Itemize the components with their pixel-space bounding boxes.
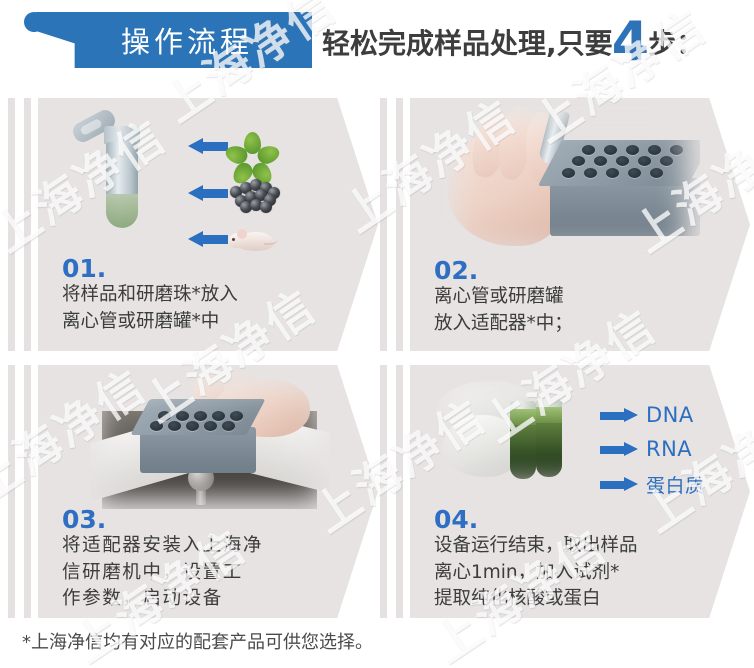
sample-vial-icon: [536, 399, 562, 477]
step-number: 03.: [62, 505, 106, 534]
step-caption: 将适配器安装入上海净 信研磨机中，设置工 作参数，启动设备: [62, 533, 263, 613]
banner-label: 操作流程: [95, 19, 253, 61]
page-title: 轻松完成样品处理,只要 4 步：: [322, 13, 704, 71]
step-number: 04.: [434, 505, 478, 534]
mouse-icon: [228, 224, 278, 254]
arrow-left-icon: [188, 138, 228, 154]
sample-row-beads: [188, 176, 280, 210]
card-accent-bar-outer: [8, 365, 15, 618]
card-accent-bar-inner: [396, 365, 403, 618]
headline-suffix: 步：: [648, 22, 704, 62]
output-label-protein: 蛋白质: [646, 471, 705, 498]
step-card-02: 02. 离心管或研磨罐 放入适配器*中；: [380, 98, 750, 351]
output-label-dna: DNA: [646, 403, 694, 427]
tube-body: [106, 142, 138, 228]
headline-prefix: 轻松完成样品处理,只要: [322, 22, 613, 62]
step-card-04: DNA RNA 蛋白质 04. 设备运行结束，取出样品 离心1min，加入试剂*…: [380, 365, 750, 618]
adapter-loading-photo: [440, 102, 700, 262]
card-accent-bar-inner: [396, 98, 403, 351]
card-accent-bar-outer: [380, 98, 387, 351]
card-accent-bar-outer: [380, 365, 387, 618]
clover-leaf-icon: [228, 126, 274, 166]
tube-liquid: [106, 194, 138, 228]
step-card-01: 01. 将样品和研磨珠*放入 离心管或研磨罐*中: [8, 98, 378, 351]
card-body: 03. 将适配器安装入上海净 信研磨机中，设置工 作参数，启动设备: [38, 365, 378, 618]
step-number: 01.: [62, 254, 106, 283]
card-body: 02. 离心管或研磨罐 放入适配器*中；: [410, 98, 750, 351]
sample-vial-icon: [510, 401, 536, 479]
output-row-dna: DNA: [600, 403, 694, 427]
page-header: 操作流程 轻松完成样品处理,只要 4 步：: [0, 0, 754, 84]
step-number: 02.: [434, 256, 478, 285]
arrow-left-icon: [188, 231, 228, 247]
output-row-protein: 蛋白质: [600, 471, 705, 498]
arrow-left-icon: [188, 185, 228, 201]
card-accent-bar-inner: [24, 98, 31, 351]
card-body: DNA RNA 蛋白质 04. 设备运行结束，取出样品 离心1min，加入试剂*…: [410, 365, 750, 618]
card-accent-bar-inner: [24, 365, 31, 618]
output-label-rna: RNA: [646, 437, 692, 461]
headline-step-count: 4: [612, 19, 650, 65]
arrow-right-icon: [600, 477, 638, 492]
step-caption: 将样品和研磨珠*放入 离心管或研磨罐*中: [62, 282, 238, 335]
sample-row-animal: [188, 224, 278, 254]
step-caption: 设备运行结束，取出样品 离心1min，加入试剂* 提取纯化核酸或蛋白: [434, 533, 638, 613]
section-banner: 操作流程: [36, 12, 312, 68]
sample-result-photo: [436, 375, 606, 497]
arrow-right-icon: [600, 408, 638, 423]
step-caption: 离心管或研磨罐 放入适配器*中；: [434, 284, 573, 337]
gloved-palm: [442, 415, 520, 477]
steps-grid: 01. 将样品和研磨珠*放入 离心管或研磨罐*中: [0, 90, 754, 620]
grinder-install-photo: [84, 371, 334, 511]
output-row-rna: RNA: [600, 437, 692, 461]
steel-beads-icon: [228, 176, 280, 210]
card-accent-bar-outer: [8, 98, 15, 351]
card-body: 01. 将样品和研磨珠*放入 离心管或研磨罐*中: [38, 98, 378, 351]
adapter-block-icon: [550, 178, 700, 236]
footer-note: *上海净信均有对应的配套产品可供您选择。: [22, 628, 373, 654]
sample-row-plant: [188, 126, 274, 166]
tube-icon: [94, 120, 150, 240]
step-card-03: 03. 将适配器安装入上海净 信研磨机中，设置工 作参数，启动设备: [8, 365, 378, 618]
arrow-right-icon: [600, 442, 638, 457]
